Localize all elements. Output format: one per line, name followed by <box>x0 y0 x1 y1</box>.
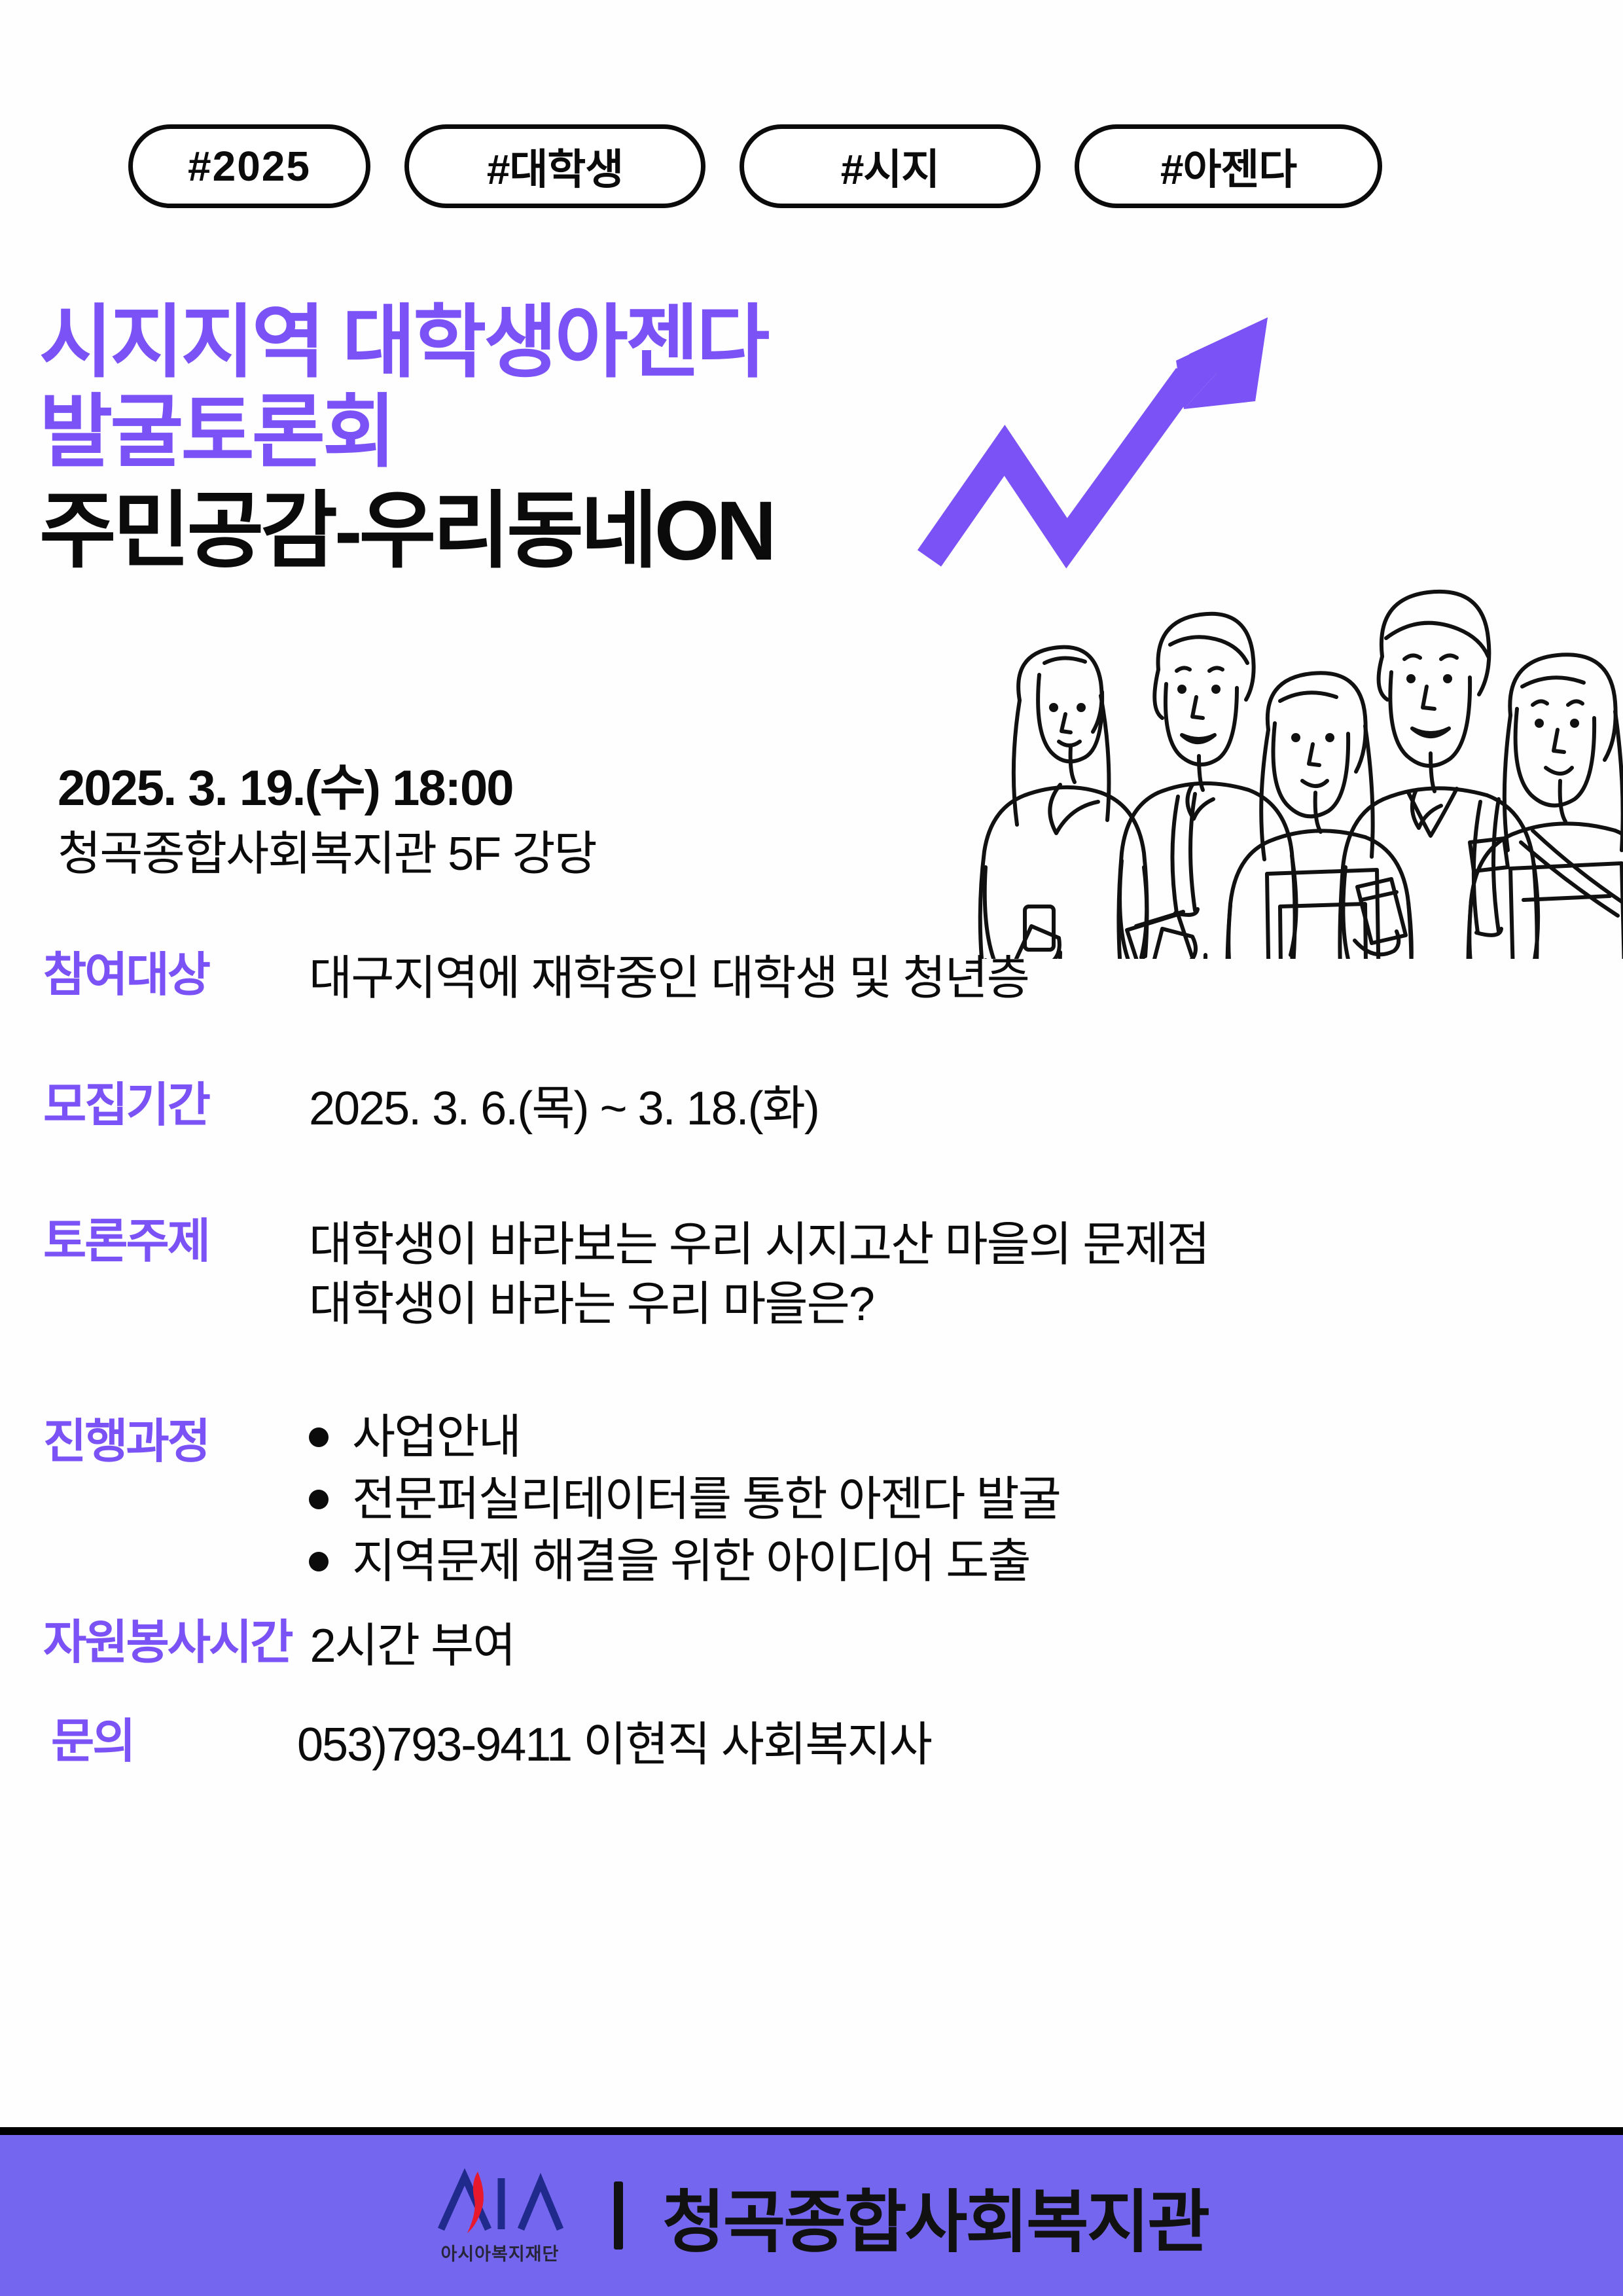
process-bullet-list: 사업안내 전문퍼실리테이터를 통한 아젠다 발굴 지역문제 해결을 위한 아이디… <box>309 1407 1060 1593</box>
value-target: 대구지역에 재학중인 대학생 및 청년층 <box>309 949 1029 1009</box>
detail-row-period: 모집기간 2025. 3. 6.(목) ~ 3. 18.(화) <box>0 1079 1623 1139</box>
value-period-line-1: 2025. 3. 6.(목) ~ 3. 18.(화) <box>309 1079 819 1139</box>
hashtag-bar: #2025 #대학생 #시지 #아젠다 <box>128 124 1382 208</box>
label-target: 참여대상 <box>43 949 285 1002</box>
detail-row-target: 참여대상 대구지역에 재학중인 대학생 및 청년층 <box>0 949 1623 1009</box>
process-step-1: 사업안내 <box>352 1407 520 1469</box>
asia-logo-icon <box>428 2166 572 2237</box>
event-poster: #2025 #대학생 #시지 #아젠다 시지지역 대학생아젠다 발굴토론회 주민… <box>0 0 1623 2296</box>
asia-logo-subtext: 아시아복지재단 <box>440 2240 559 2265</box>
value-topic-line-2: 대학생이 바라는 우리 마을은? <box>309 1275 1209 1335</box>
value-volunteer-hours: 2시간 부여 <box>310 1617 514 1676</box>
bullet-dot-icon <box>309 1427 329 1447</box>
value-contact-line-1: 053)793-9411 이현직 사회복지사 <box>297 1715 931 1775</box>
list-item: 지역문제 해결을 위한 아이디어 도출 <box>309 1531 1060 1593</box>
detail-row-volunteer-hours: 자원봉사시간 2시간 부여 <box>0 1617 1623 1676</box>
hashtag-pill-university-student[interactable]: #대학생 <box>404 124 705 208</box>
event-datetime: 2025. 3. 19.(수) 18:00 <box>58 759 596 818</box>
detail-row-contact: 문의 053)793-9411 이현직 사회복지사 <box>0 1715 1623 1775</box>
hashtag-pill-siji[interactable]: #시지 <box>740 124 1041 208</box>
bullet-dot-icon <box>309 1552 329 1571</box>
label-process: 진행과정 <box>43 1407 285 1469</box>
title-line-3-subtitle: 주민공감-우리동네ON <box>39 484 774 578</box>
poster-footer: 아시아복지재단 청곡종합사회복지관 <box>0 2127 1623 2296</box>
footer-organization-name: 청곡종합사회복지관 <box>662 2166 1208 2265</box>
label-volunteer-hours: 자원봉사시간 <box>43 1617 291 1670</box>
hashtag-pill-2025[interactable]: #2025 <box>128 124 370 208</box>
detail-row-topic: 토론주제 대학생이 바라보는 우리 시지고산 마을의 문제점 대학생이 바라는 … <box>0 1215 1623 1334</box>
value-target-line-1: 대구지역에 재학중인 대학생 및 청년층 <box>309 949 1029 1009</box>
label-period: 모집기간 <box>43 1079 285 1132</box>
value-process: 사업안내 전문퍼실리테이터를 통한 아젠다 발굴 지역문제 해결을 위한 아이디… <box>309 1407 1060 1593</box>
list-item: 전문퍼실리테이터를 통한 아젠다 발굴 <box>309 1469 1060 1531</box>
process-step-3: 지역문제 해결을 위한 아이디어 도출 <box>352 1531 1030 1593</box>
process-step-2: 전문퍼실리테이터를 통한 아젠다 발굴 <box>352 1469 1060 1531</box>
bullet-dot-icon <box>309 1490 329 1509</box>
event-venue: 청곡종합사회복지관 5F 강당 <box>58 826 596 882</box>
value-topic-line-1: 대학생이 바라보는 우리 시지고산 마을의 문제점 <box>309 1215 1209 1275</box>
event-details: 참여대상 대구지역에 재학중인 대학생 및 청년층 모집기간 2025. 3. … <box>0 949 1623 1829</box>
detail-row-process: 진행과정 사업안내 전문퍼실리테이터를 통한 아젠다 발굴 지역문제 해결을 위… <box>0 1407 1623 1593</box>
label-contact: 문의 <box>51 1715 274 1768</box>
value-period: 2025. 3. 6.(목) ~ 3. 18.(화) <box>309 1079 819 1139</box>
students-illustration <box>962 560 1623 959</box>
value-topic: 대학생이 바라보는 우리 시지고산 마을의 문제점 대학생이 바라는 우리 마을… <box>309 1215 1209 1334</box>
value-contact: 053)793-9411 이현직 사회복지사 <box>297 1715 931 1775</box>
growth-arrow-icon <box>906 298 1312 573</box>
value-volunteer-hours-line-1: 2시간 부여 <box>310 1617 514 1676</box>
poster-title: 시지지역 대학생아젠다 발굴토론회 주민공감-우리동네ON <box>39 298 774 579</box>
asia-foundation-logo: 아시아복지재단 <box>415 2166 585 2265</box>
footer-brand: 아시아복지재단 청곡종합사회복지관 <box>415 2166 1208 2265</box>
event-datetime-block: 2025. 3. 19.(수) 18:00 청곡종합사회복지관 5F 강당 <box>58 759 596 882</box>
footer-divider <box>614 2181 623 2250</box>
list-item: 사업안내 <box>309 1407 1060 1469</box>
hashtag-pill-agenda[interactable]: #아젠다 <box>1075 124 1382 208</box>
label-topic: 토론주제 <box>43 1215 285 1268</box>
title-line-2: 발굴토론회 <box>39 387 774 477</box>
title-line-1: 시지지역 대학생아젠다 <box>39 298 774 387</box>
